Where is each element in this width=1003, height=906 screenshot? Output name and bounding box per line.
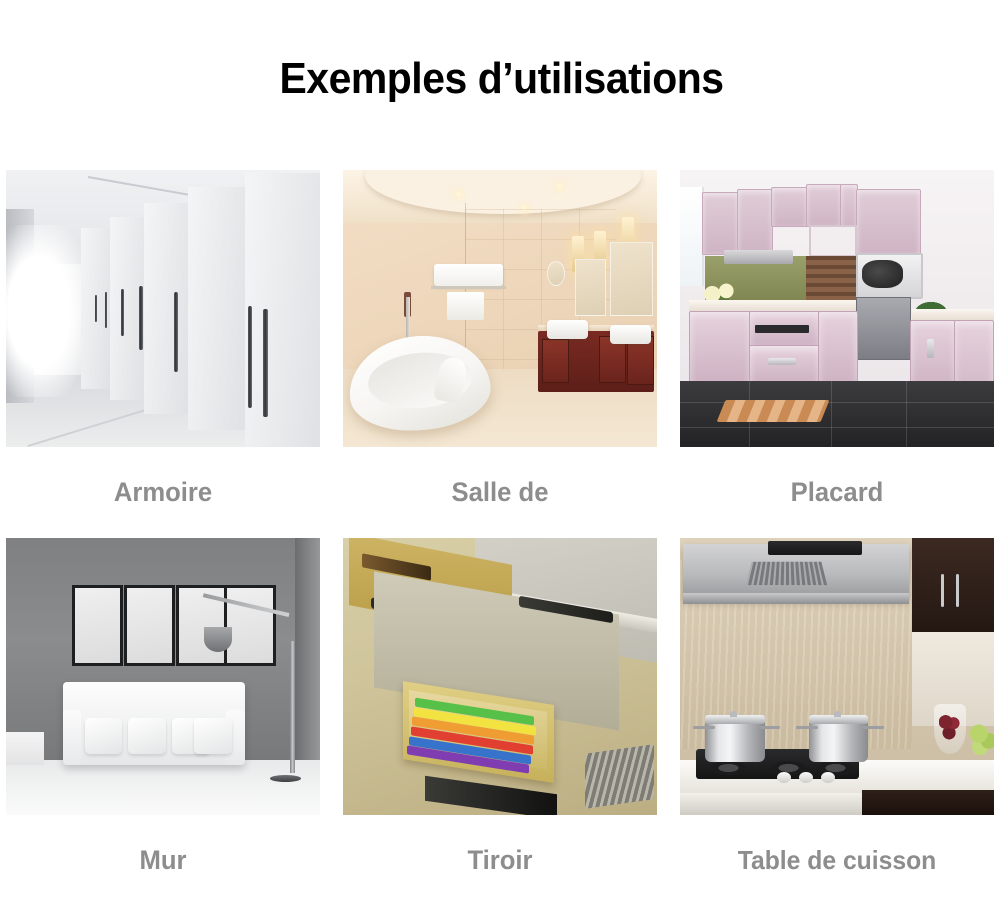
caption-armoire: Armoire xyxy=(14,447,312,538)
floor-rug xyxy=(716,400,829,422)
upper-cabinet xyxy=(737,189,774,255)
pot-handle xyxy=(862,726,884,729)
countertop xyxy=(689,300,855,311)
wardrobe-door xyxy=(188,187,246,431)
photo-mur[interactable] xyxy=(6,538,320,815)
tile-grout-line xyxy=(680,427,994,428)
open-shelf-cubby xyxy=(809,225,857,257)
window xyxy=(680,187,704,287)
sofa-cushion xyxy=(194,718,232,754)
lower-dark-cabinet xyxy=(862,790,994,815)
upper-cabinet xyxy=(771,187,808,228)
door-handle xyxy=(121,289,124,336)
base-cabinet xyxy=(689,311,751,385)
gallery-item-mur[interactable]: Mur xyxy=(6,538,320,906)
caption-mur: Mur xyxy=(14,815,312,906)
photo-placard[interactable] xyxy=(680,170,994,447)
gallery-item-salle-de-bain[interactable]: Salle de xyxy=(343,170,657,538)
caption-salle-de-bain: Salle de xyxy=(351,447,649,538)
examples-page: Exemples d’utilisations xyxy=(0,0,1003,898)
floor xyxy=(6,760,320,815)
grapes-in-jar xyxy=(939,713,961,743)
green-fruit-bowl xyxy=(969,721,994,757)
countertop xyxy=(912,309,994,320)
gallery-item-placard[interactable]: Placard xyxy=(680,170,994,538)
cutlery-set xyxy=(585,744,654,809)
cabinet-handle xyxy=(927,339,935,358)
picture-frame xyxy=(224,585,276,666)
built-in-oven xyxy=(856,297,911,360)
pot-handle xyxy=(693,726,715,729)
drawer-handle xyxy=(768,358,796,365)
pot-lid-knob xyxy=(834,711,841,717)
pot-lid-knob xyxy=(730,711,737,717)
gallery-item-tiroir[interactable]: Tiroir xyxy=(343,538,657,906)
gallery-item-table-de-cuisson[interactable]: Table de cuisson xyxy=(680,538,994,906)
caption-table-de-cuisson: Table de cuisson xyxy=(688,815,986,906)
lamp-base xyxy=(270,775,301,782)
window-light xyxy=(6,225,88,397)
gas-burner xyxy=(711,761,746,775)
upper-cabinet xyxy=(806,184,843,228)
pot-handle xyxy=(796,726,818,729)
mirror xyxy=(610,242,653,316)
wardrobe-door xyxy=(144,203,189,414)
page-title: Exemples d’utilisations xyxy=(35,54,968,104)
photo-table-de-cuisson[interactable] xyxy=(680,538,994,815)
freestanding-tap xyxy=(406,297,410,341)
gallery-item-armoire[interactable]: Armoire xyxy=(6,170,320,538)
sofa-cushion xyxy=(128,718,166,754)
upper-cabinet xyxy=(702,192,739,255)
door-handle xyxy=(248,306,253,408)
base-cabinet xyxy=(818,311,858,388)
examples-grid: Armoire xyxy=(6,170,994,906)
round-mirror xyxy=(547,261,565,285)
lamp-shade xyxy=(204,627,232,652)
pot-handle xyxy=(759,726,781,729)
door-handle xyxy=(263,309,268,417)
picture-frame xyxy=(72,585,124,666)
countertop-front-edge xyxy=(680,793,875,815)
lamp-pole xyxy=(290,641,295,774)
picture-frame xyxy=(124,585,176,666)
tall-pantry-cabinet xyxy=(856,189,921,255)
vessel-sink xyxy=(610,325,651,344)
caption-tiroir: Tiroir xyxy=(351,815,649,906)
tile-grout-line xyxy=(831,381,832,447)
hood-control-panel xyxy=(768,541,862,555)
ceiling-spotlight xyxy=(557,184,562,189)
mirror xyxy=(575,259,605,316)
sofa-arm xyxy=(63,710,82,765)
range-hood xyxy=(724,250,793,264)
dark-wall-cabinet xyxy=(912,538,994,632)
towel-shelf xyxy=(434,264,503,286)
tile-grout-line xyxy=(906,381,907,447)
vanity-door xyxy=(542,339,569,383)
door-handle xyxy=(174,292,178,372)
sofa-cushion xyxy=(85,718,123,754)
vessel-sink xyxy=(547,320,588,339)
towel-bar xyxy=(431,286,506,289)
microwave-door-glass xyxy=(862,260,903,288)
photo-salle-de-bain[interactable] xyxy=(343,170,657,447)
door-handle xyxy=(139,286,143,350)
cabinet-handle xyxy=(941,574,944,607)
caption-placard: Placard xyxy=(688,447,986,538)
photo-armoire[interactable] xyxy=(6,170,320,447)
hanging-towel xyxy=(447,292,485,320)
brick-backsplash xyxy=(806,256,856,303)
wardrobe-door xyxy=(245,173,320,447)
hood-grease-filter xyxy=(746,562,828,585)
photo-tiroir[interactable] xyxy=(343,538,657,815)
left-low-panel xyxy=(6,732,44,765)
hood-front-lip xyxy=(683,593,909,604)
drawer-handle xyxy=(755,325,808,333)
